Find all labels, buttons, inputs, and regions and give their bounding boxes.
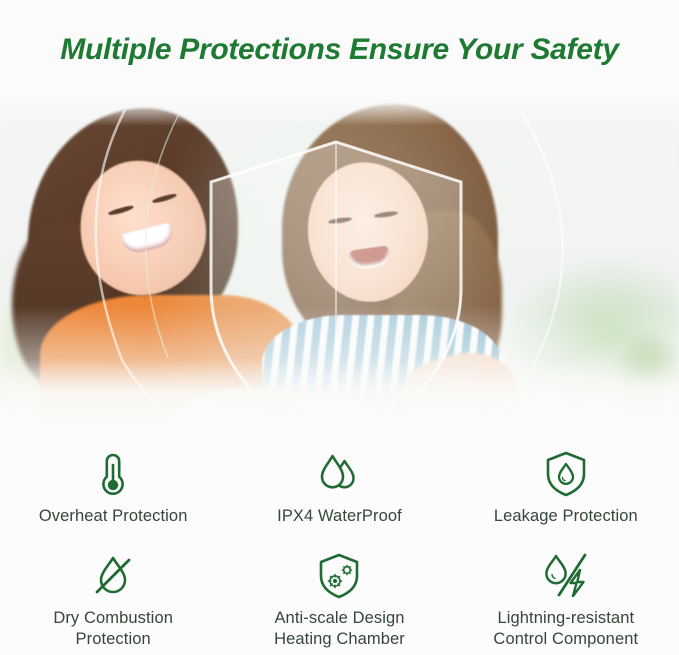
shield-arc-decoration-icon xyxy=(60,110,620,455)
droplet-lightning-icon xyxy=(540,552,592,600)
shield-antiscale-icon xyxy=(316,552,362,600)
feature-label: Overheat Protection xyxy=(39,506,188,527)
feature-lightning-resistant-control[interactable]: Lightning-resistant Control Component xyxy=(453,552,679,650)
thermometer-icon xyxy=(96,450,130,498)
product-feature-banner: Multiple Protections Ensure Your Safety xyxy=(0,0,679,655)
page-title: Multiple Protections Ensure Your Safety xyxy=(60,33,618,67)
feature-label: Dry Combustion Protection xyxy=(53,608,173,650)
no-dry-burn-icon xyxy=(90,552,136,600)
feature-overheat-protection[interactable]: Overheat Protection xyxy=(0,450,226,527)
feature-anti-scale-heating-chamber[interactable]: Anti-scale Design Heating Chamber xyxy=(226,552,452,650)
feature-ipx4-waterproof[interactable]: IPX4 WaterProof xyxy=(226,450,452,527)
feature-row-top: Overheat Protection IPX4 WaterProof xyxy=(0,450,679,527)
shield-droplet-icon xyxy=(544,450,588,498)
feature-row-bottom: Dry Combustion Protection xyxy=(0,552,679,650)
banner-header: Multiple Protections Ensure Your Safety xyxy=(0,0,679,100)
feature-label: IPX4 WaterProof xyxy=(277,506,402,527)
feature-label: Leakage Protection xyxy=(494,506,638,527)
water-drops-icon xyxy=(315,450,363,498)
hero-photo xyxy=(0,100,679,455)
feature-dry-combustion-protection[interactable]: Dry Combustion Protection xyxy=(0,552,226,650)
feature-label: Anti-scale Design Heating Chamber xyxy=(274,608,405,650)
feature-label: Lightning-resistant Control Component xyxy=(493,608,638,650)
feature-leakage-protection[interactable]: Leakage Protection xyxy=(453,450,679,527)
feature-grid: Overheat Protection IPX4 WaterProof xyxy=(0,440,679,655)
